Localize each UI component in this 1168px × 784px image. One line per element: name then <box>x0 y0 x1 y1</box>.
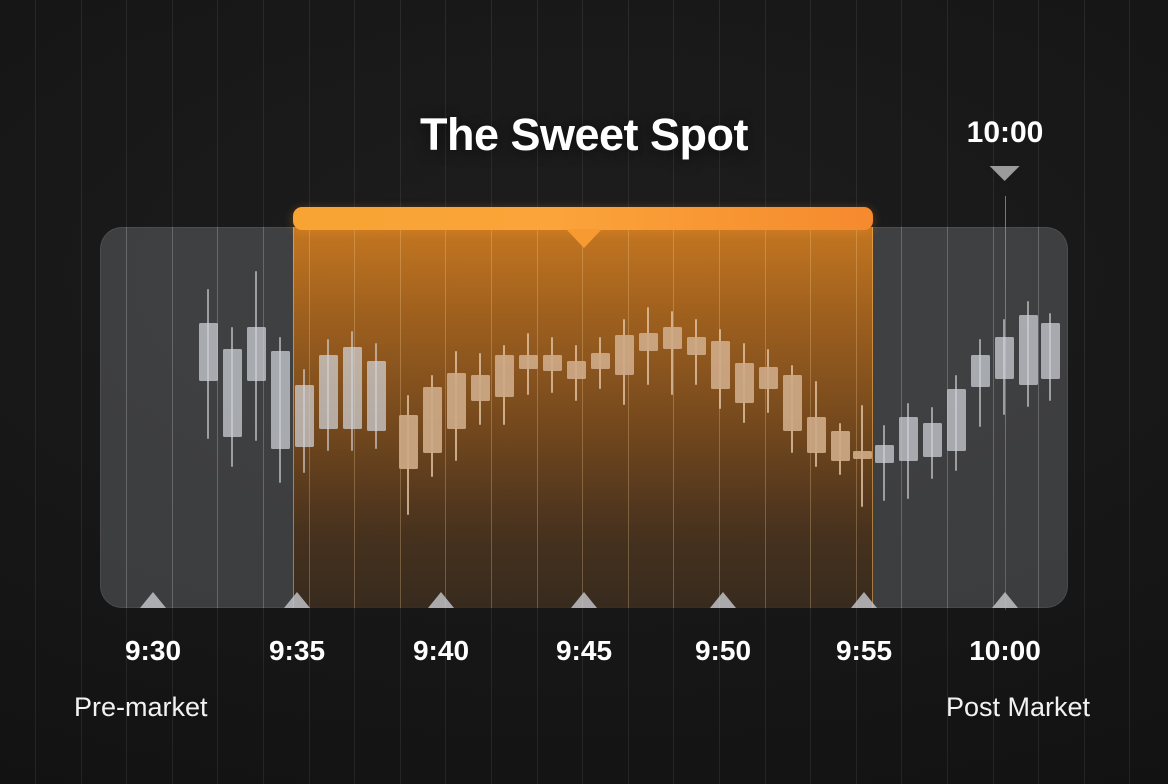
now-marker: 10:00 <box>967 118 1044 181</box>
candle-body <box>663 327 682 349</box>
candle-body <box>807 417 826 453</box>
candle-body <box>735 363 754 403</box>
candle-body <box>639 333 658 351</box>
candlestick <box>923 227 942 608</box>
candlestick <box>831 227 850 608</box>
candlestick <box>875 227 894 608</box>
candlestick <box>471 227 490 608</box>
triangle-up-icon <box>710 592 736 608</box>
candle-wick <box>671 311 673 395</box>
candle-body <box>615 335 634 375</box>
candlestick <box>591 227 610 608</box>
axis-label-9-35: 9:35 <box>269 637 325 665</box>
candle-body <box>711 341 730 389</box>
candlestick <box>423 227 442 608</box>
candle-body <box>295 385 314 447</box>
candle-body <box>271 351 290 449</box>
candlestick <box>199 227 218 608</box>
candlestick <box>447 227 466 608</box>
candlestick <box>639 227 658 608</box>
triangle-up-icon <box>284 592 310 608</box>
post-market-label: Post Market <box>946 694 1090 721</box>
candle-body <box>1041 323 1060 379</box>
candlestick <box>567 227 586 608</box>
candlestick <box>343 227 362 608</box>
candlestick <box>947 227 966 608</box>
triangle-down-icon <box>990 166 1020 181</box>
candle-body <box>923 423 942 457</box>
candlestick <box>271 227 290 608</box>
candle-body <box>423 387 442 453</box>
candle-wick <box>883 425 885 501</box>
candle-body <box>367 361 386 431</box>
axis-label-9-55: 9:55 <box>836 637 892 665</box>
axis-label-10-00: 10:00 <box>969 637 1041 665</box>
axis-label-9-45: 9:45 <box>556 637 612 665</box>
candlestick <box>735 227 754 608</box>
candlestick <box>399 227 418 608</box>
axis-label-9-40: 9:40 <box>413 637 469 665</box>
candlestick <box>247 227 266 608</box>
candle-body <box>567 361 586 379</box>
pre-market-label: Pre-market <box>74 694 208 721</box>
candlestick <box>295 227 314 608</box>
candle-body <box>831 431 850 461</box>
candlestick <box>615 227 634 608</box>
triangle-up-icon <box>428 592 454 608</box>
candlestick <box>783 227 802 608</box>
candle-body <box>399 415 418 469</box>
candle-body <box>495 355 514 397</box>
candle-body <box>875 445 894 463</box>
candle-body <box>319 355 338 429</box>
candlestick <box>687 227 706 608</box>
now-marker-label: 10:00 <box>967 118 1044 148</box>
candle-body <box>223 349 242 437</box>
candle-body <box>853 451 872 459</box>
candlestick <box>807 227 826 608</box>
candle-body <box>447 373 466 429</box>
candle-body <box>343 347 362 429</box>
candlestick <box>495 227 514 608</box>
candlestick <box>519 227 538 608</box>
candlestick <box>899 227 918 608</box>
candle-body <box>1019 315 1038 385</box>
candle-body <box>543 355 562 371</box>
triangle-up-icon <box>851 592 877 608</box>
candlestick <box>971 227 990 608</box>
triangle-up-icon <box>140 592 166 608</box>
candle-body <box>947 389 966 451</box>
candle-body <box>199 323 218 381</box>
candlestick <box>759 227 778 608</box>
candle-body <box>519 355 538 369</box>
candlestick <box>1019 227 1038 608</box>
candlestick <box>853 227 872 608</box>
candlestick <box>711 227 730 608</box>
candle-body <box>471 375 490 401</box>
selection-pointer-icon <box>566 229 602 248</box>
axis-label-9-30: 9:30 <box>125 637 181 665</box>
triangle-up-icon <box>992 592 1018 608</box>
candle-body <box>687 337 706 355</box>
candlestick <box>1041 227 1060 608</box>
candlestick <box>995 227 1014 608</box>
axis-label-9-50: 9:50 <box>695 637 751 665</box>
gridline <box>126 227 127 608</box>
candlestick <box>367 227 386 608</box>
candle-body <box>247 327 266 381</box>
candle-body <box>899 417 918 461</box>
candle-body <box>759 367 778 389</box>
gridline <box>491 227 492 608</box>
candle-body <box>971 355 990 387</box>
chart-stage: The Sweet Spot 10:00 9:309:359:409:459:5… <box>0 0 1168 784</box>
gridline <box>172 227 173 608</box>
triangle-up-icon <box>571 592 597 608</box>
candle-body <box>995 337 1014 379</box>
candle-body <box>591 353 610 369</box>
candlestick <box>223 227 242 608</box>
candlestick <box>319 227 338 608</box>
gridline <box>1038 227 1039 608</box>
candle-body <box>783 375 802 431</box>
selection-bar[interactable] <box>293 207 873 230</box>
candlestick <box>543 227 562 608</box>
chart-panel[interactable] <box>100 227 1068 608</box>
candlestick <box>663 227 682 608</box>
